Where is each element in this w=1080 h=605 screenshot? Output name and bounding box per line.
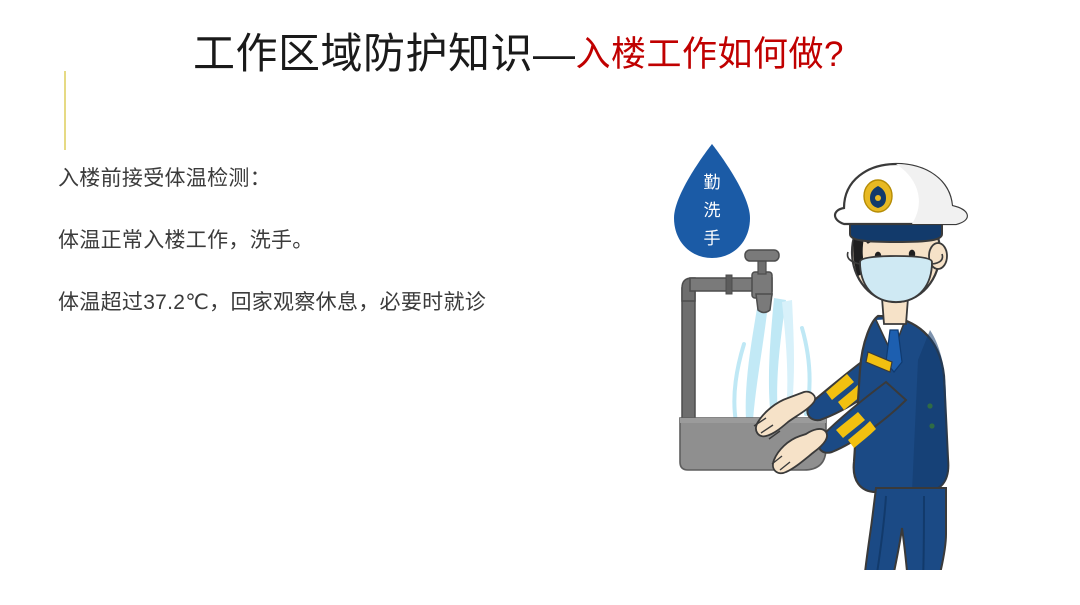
waterdrop-char-2: 洗: [704, 201, 721, 220]
page-title-emphasis: 入楼工作如何做?: [576, 35, 844, 74]
cap-badge-icon: [864, 180, 892, 212]
slide-canvas: 工作区域防护知识—入楼工作如何做? 入楼前接受体温检测： 体温正常入楼工作，洗手…: [0, 0, 1080, 605]
body-text-block: 入楼前接受体温检测： 体温正常入楼工作，洗手。 体温超过37.2℃，回家观察休息…: [58, 168, 618, 313]
waterdrop-char-1: 勤: [704, 173, 721, 192]
officer-figure: [754, 164, 967, 570]
waterdrop-icon: 勤 洗 手: [674, 144, 750, 258]
sink-faucet-graphic: [682, 250, 779, 423]
waterdrop-char-3: 手: [704, 229, 721, 248]
page-title: 工作区域防护知识—入楼工作如何做?: [193, 33, 844, 75]
title-accent-bar: [64, 71, 66, 150]
page-title-main: 工作区域防护知识—: [193, 30, 576, 77]
body-line-3: 体温超过37.2℃，回家观察休息，必要时就诊: [58, 292, 618, 313]
body-line-2: 体温正常入楼工作，洗手。: [58, 230, 618, 251]
illustration-officer-washing-hands: 勤 洗 手: [640, 130, 1020, 570]
body-line-1: 入楼前接受体温检测：: [58, 168, 618, 189]
